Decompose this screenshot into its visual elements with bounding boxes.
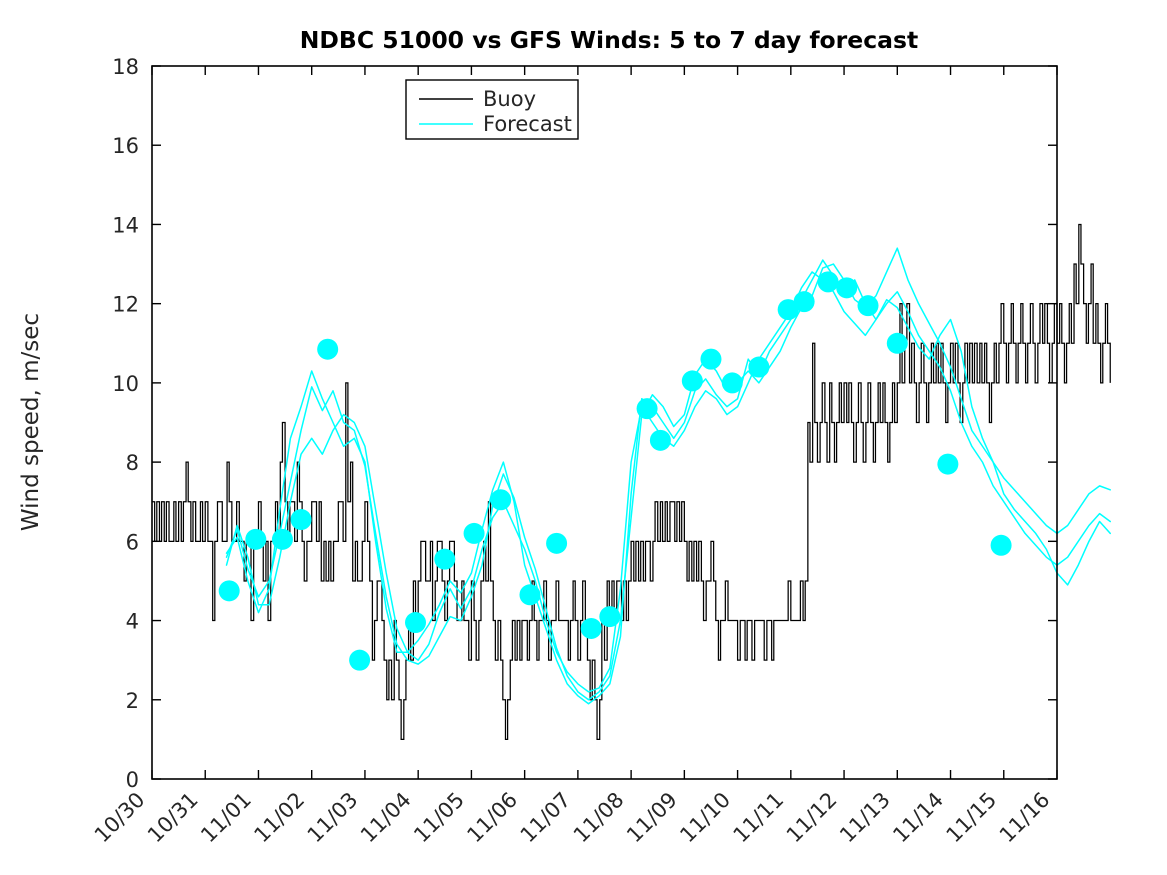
- forecast-marker: [682, 370, 703, 391]
- forecast-marker: [818, 271, 839, 292]
- forecast-marker: [599, 606, 620, 627]
- forecast-marker: [991, 535, 1012, 556]
- forecast-marker: [245, 529, 266, 550]
- y-tick-label: 2: [126, 689, 139, 713]
- chart-svg: NDBC 51000 vs GFS Winds: 5 to 7 day fore…: [0, 0, 1167, 875]
- y-tick-label: 8: [126, 451, 139, 475]
- forecast-marker: [794, 291, 815, 312]
- y-tick-label: 10: [112, 372, 139, 396]
- forecast-marker: [219, 580, 240, 601]
- legend-label-forecast: Forecast: [483, 112, 572, 136]
- y-tick-label: 12: [112, 293, 139, 317]
- forecast-marker: [581, 618, 602, 639]
- y-tick-label: 4: [126, 610, 139, 634]
- forecast-marker: [405, 612, 426, 633]
- forecast-marker: [937, 454, 958, 475]
- y-tick-label: 18: [112, 55, 139, 79]
- forecast-marker: [858, 295, 879, 316]
- legend-label-buoy: Buoy: [483, 87, 536, 111]
- forecast-marker: [546, 533, 567, 554]
- forecast-marker: [887, 333, 908, 354]
- y-axis-title: Wind speed, m/sec: [18, 313, 44, 531]
- forecast-marker: [700, 349, 721, 370]
- forecast-marker: [317, 339, 338, 360]
- chart-figure: NDBC 51000 vs GFS Winds: 5 to 7 day fore…: [0, 0, 1167, 875]
- y-tick-label: 6: [126, 530, 139, 554]
- chart-legend[interactable]: Buoy Forecast: [406, 80, 578, 139]
- forecast-marker: [519, 584, 540, 605]
- forecast-marker: [650, 430, 671, 451]
- figure-background: [0, 0, 1167, 875]
- forecast-marker: [637, 398, 658, 419]
- forecast-marker: [464, 523, 485, 544]
- forecast-marker: [490, 489, 511, 510]
- forecast-marker: [748, 357, 769, 378]
- forecast-marker: [272, 529, 293, 550]
- forecast-marker: [349, 650, 370, 671]
- forecast-marker: [722, 372, 743, 393]
- forecast-marker: [836, 277, 857, 298]
- y-tick-label: 16: [112, 134, 139, 158]
- forecast-marker: [291, 509, 312, 530]
- chart-title: NDBC 51000 vs GFS Winds: 5 to 7 day fore…: [300, 26, 918, 54]
- forecast-marker: [434, 549, 455, 570]
- y-tick-label: 14: [112, 213, 139, 237]
